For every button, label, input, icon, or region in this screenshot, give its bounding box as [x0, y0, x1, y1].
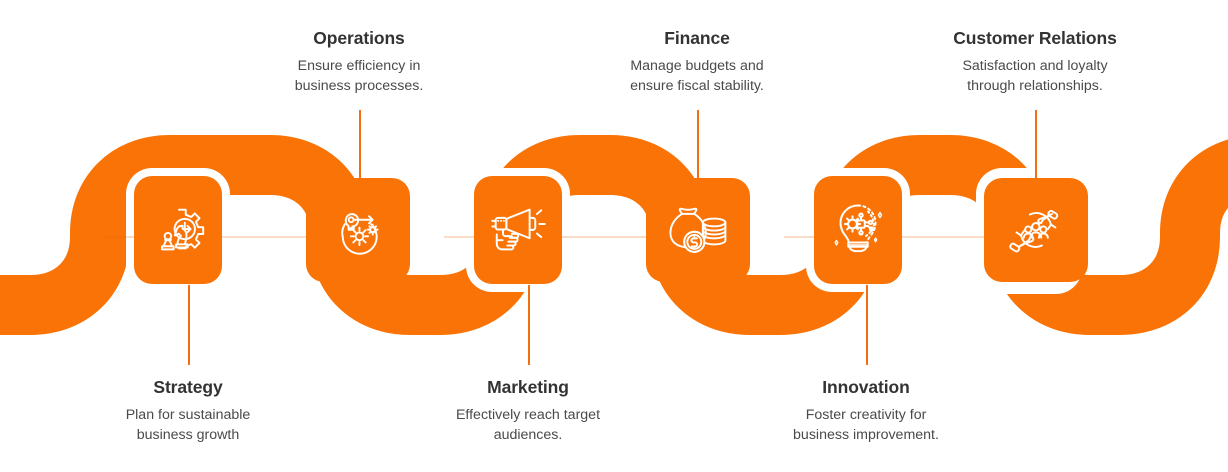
- lightbulb-circuit-icon: [826, 198, 890, 262]
- desc-line-2: business processes.: [295, 78, 424, 94]
- megaphone-hand-icon: [486, 200, 550, 260]
- caption-desc-customer-relations: Satisfaction and loyalty through relatio…: [925, 56, 1145, 96]
- desc-line-2: business improvement.: [793, 427, 939, 443]
- money-bag-coins-icon: [664, 199, 732, 261]
- caption-title-customer-relations: Customer Relations: [925, 28, 1145, 50]
- infographic-canvas: Operations Ensure efficiency in business…: [0, 0, 1228, 472]
- tile-customer-relations[interactable]: [984, 178, 1088, 282]
- tile-finance[interactable]: [646, 178, 750, 282]
- caption-innovation: Innovation Foster creativity for busines…: [756, 377, 976, 445]
- tile-innovation[interactable]: [814, 176, 902, 284]
- caption-desc-operations: Ensure efficiency in business processes.: [249, 56, 469, 96]
- desc-line-2: through relationships.: [967, 78, 1103, 94]
- desc-line-2: audiences.: [494, 427, 563, 443]
- desc-line-1: Plan for sustainable: [126, 407, 251, 423]
- desc-line-1: Manage budgets and: [630, 58, 763, 74]
- connector-line-marketing: [528, 285, 530, 365]
- caption-customer-relations: Customer Relations Satisfaction and loya…: [925, 28, 1145, 96]
- desc-line-2: business growth: [137, 427, 240, 443]
- desc-line-1: Ensure efficiency in: [298, 58, 421, 74]
- desc-line-1: Effectively reach target: [456, 407, 600, 423]
- caption-strategy: Strategy Plan for sustainable business g…: [78, 377, 298, 445]
- tile-marketing[interactable]: [474, 176, 562, 284]
- caption-title-finance: Finance: [587, 28, 807, 50]
- tile-strategy[interactable]: [134, 176, 222, 284]
- caption-title-strategy: Strategy: [78, 377, 298, 399]
- desc-line-1: Foster creativity for: [806, 407, 927, 423]
- tile-operations[interactable]: [306, 178, 410, 282]
- caption-desc-innovation: Foster creativity for business improveme…: [756, 405, 976, 445]
- lightbulb-gears-arrow-icon: [327, 199, 389, 261]
- connector-line-strategy: [188, 285, 190, 365]
- caption-title-innovation: Innovation: [756, 377, 976, 399]
- caption-title-marketing: Marketing: [418, 377, 638, 399]
- caption-desc-marketing: Effectively reach target audiences.: [418, 405, 638, 445]
- caption-operations: Operations Ensure efficiency in business…: [249, 28, 469, 96]
- gear-chess-icon: [147, 199, 209, 261]
- caption-title-operations: Operations: [249, 28, 469, 50]
- desc-line-1: Satisfaction and loyalty: [962, 58, 1107, 74]
- caption-desc-finance: Manage budgets and ensure fiscal stabili…: [587, 56, 807, 96]
- desc-line-2: ensure fiscal stability.: [630, 78, 764, 94]
- caption-finance: Finance Manage budgets and ensure fiscal…: [587, 28, 807, 96]
- caption-marketing: Marketing Effectively reach target audie…: [418, 377, 638, 445]
- hands-people-care-icon: [1004, 199, 1068, 261]
- caption-desc-strategy: Plan for sustainable business growth: [78, 405, 298, 445]
- connector-line-innovation: [866, 285, 868, 365]
